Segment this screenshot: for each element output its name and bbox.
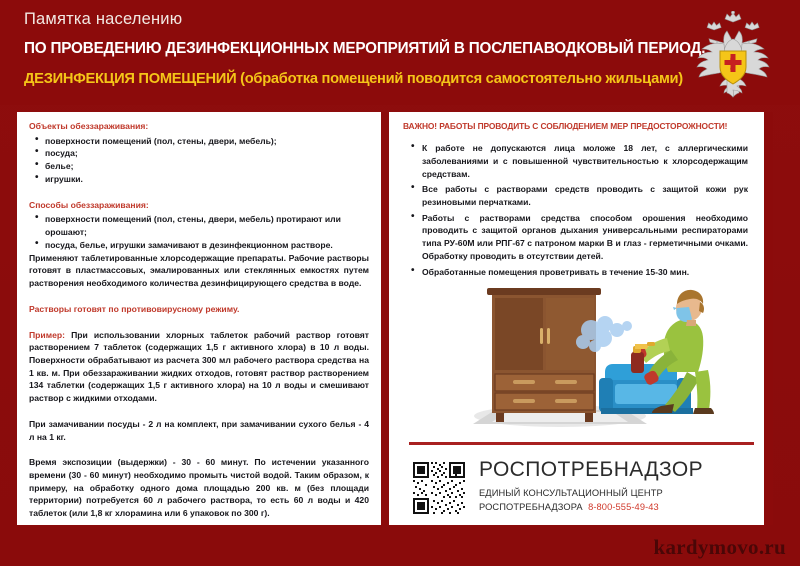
right-content-panel: ВАЖНО! РАБОТЫ ПРОВОДИТЬ С СОБЛЮДЕНИЕМ МЕ…	[389, 112, 764, 525]
list-item: Все работы с растворами средств проводит…	[422, 183, 748, 209]
example-paragraph: Пример: При использовании хлорных таблет…	[29, 329, 369, 405]
methods-list: поверхности помещений (пол, стены, двери…	[29, 213, 369, 251]
left-column-text: Объекты обеззараживания: поверхности пом…	[29, 120, 369, 520]
antiviral-regime-note: Растворы готовят по противовирусному реж…	[29, 303, 369, 316]
logo-text-group: РОСПОТРЕБНАДЗОР ЕДИНЫЙ КОНСУЛЬТАЦИОННЫЙ …	[479, 458, 703, 513]
methods-section-title: Способы обеззараживания:	[29, 199, 369, 212]
soaking-paragraph: При замачивании посуды - 2 л на комплект…	[29, 418, 369, 443]
right-column-text: ВАЖНО! РАБОТЫ ПРОВОДИТЬ С СОБЛЮДЕНИЕМ МЕ…	[403, 120, 748, 281]
list-item: посуда;	[45, 147, 369, 160]
logo-separator-rule	[409, 442, 754, 445]
qr-code[interactable]	[411, 460, 467, 516]
list-item: поверхности помещений (пол, стены, двери…	[45, 213, 369, 239]
header-title-main: ПО ПРОВЕДЕНИЮ ДЕЗИНФЕКЦИОННЫХ МЕРОПРИЯТИ…	[24, 37, 664, 61]
site-watermark: kardymovo.ru	[653, 535, 786, 560]
wardrobe	[487, 288, 601, 422]
preparation-paragraph: Применяют таблетированные хлорсодержащие…	[29, 252, 369, 290]
left-content-panel: Объекты обеззараживания: поверхности пом…	[17, 112, 381, 525]
list-item: Обработанные помещения проветривать в те…	[422, 266, 748, 279]
column-divider	[381, 112, 389, 525]
consultation-center-org: РОСПОТРЕБНАДЗОРА	[479, 502, 583, 512]
poster-header: Памятка населению ПО ПРОВЕДЕНИЮ ДЕЗИНФЕК…	[0, 0, 800, 105]
hotline-phone: 8-800-555-49-43	[588, 502, 659, 512]
right-edge-strip	[764, 112, 773, 525]
objects-list: поверхности помещений (пол, стены, двери…	[29, 135, 369, 186]
person-disinfecting-room-illustration	[395, 280, 745, 428]
rospotrebnadzor-logo-block: РОСПОТРЕБНАДЗОР ЕДИНЫЙ КОНСУЛЬТАЦИОННЫЙ …	[411, 460, 759, 518]
list-item: поверхности помещений (пол, стены, двери…	[45, 135, 369, 148]
example-body: При использовании хлорных таблеток рабоч…	[29, 330, 369, 404]
header-subtitle: Памятка населению	[24, 8, 674, 30]
list-item: белье;	[45, 160, 369, 173]
list-item: игрушки.	[45, 173, 369, 186]
header-text-block: Памятка населению ПО ПРОВЕДЕНИЮ ДЕЗИНФЕК…	[24, 8, 674, 91]
list-item: Работы с растворами средства способом ор…	[422, 212, 748, 264]
example-label: Пример:	[29, 330, 65, 340]
consultation-center-line1: ЕДИНЫЙ КОНСУЛЬТАЦИОННЫЙ ЦЕНТР	[479, 487, 703, 500]
precautions-list: К работе не допускаются лица моложе 18 л…	[403, 142, 748, 279]
poster-root: Памятка населению ПО ПРОВЕДЕНИЮ ДЕЗИНФЕК…	[0, 0, 800, 566]
exposure-time-paragraph: Время экспозиции (выдержки) - 30 - 60 ми…	[29, 456, 369, 520]
list-item: посуда, белье, игрушки замачивают в дези…	[45, 239, 369, 252]
organization-name: РОСПОТРЕБНАДЗОР	[479, 458, 703, 482]
precautions-title: ВАЖНО! РАБОТЫ ПРОВОДИТЬ С СОБЛЮДЕНИЕМ МЕ…	[403, 120, 748, 132]
russian-double-headed-eagle-emblem	[683, 11, 783, 103]
header-title-highlight: ДЕЗИНФЕКЦИЯ ПОМЕЩЕНИЙ (обработка помещен…	[24, 67, 661, 91]
list-item: К работе не допускаются лица моложе 18 л…	[422, 142, 748, 181]
consultation-center-line2: РОСПОТРЕБНАДЗОРА 8-800-555-49-43	[479, 501, 703, 514]
objects-section-title: Объекты обеззараживания:	[29, 120, 369, 133]
